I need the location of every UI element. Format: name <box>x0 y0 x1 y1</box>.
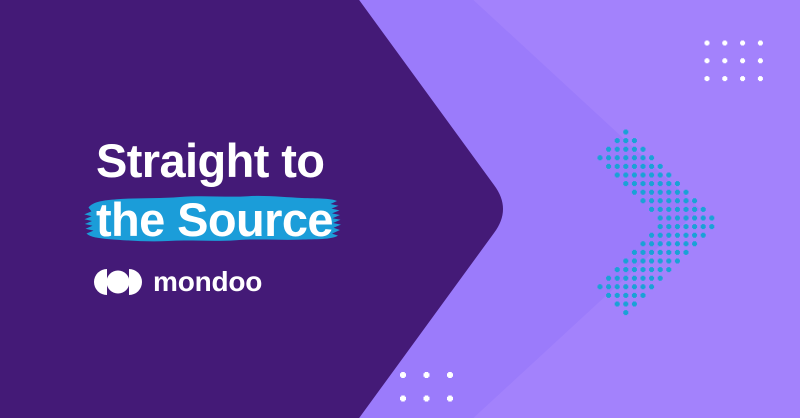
decorative-dot <box>623 130 628 135</box>
decorative-dot <box>701 207 706 212</box>
promo-banner: Straight to the Source mondoo <box>0 0 800 418</box>
decorative-dot <box>623 259 628 264</box>
decorative-dot <box>666 207 671 212</box>
decorative-dot <box>615 147 620 152</box>
decorative-dot <box>615 155 620 160</box>
decorative-dot <box>658 259 663 264</box>
decorative-dot <box>705 58 710 63</box>
decorative-dot <box>649 190 654 195</box>
decorative-dot <box>632 250 637 255</box>
decorative-dot <box>658 276 663 281</box>
headline-line-1: Straight to <box>96 132 394 190</box>
decorative-dot <box>623 164 628 169</box>
decorative-dot <box>649 181 654 186</box>
decorative-dot <box>675 250 680 255</box>
white-dot-grid-bottom <box>400 372 453 418</box>
decorative-dot <box>658 164 663 169</box>
decorative-dot <box>623 267 628 272</box>
decorative-dot <box>598 284 603 289</box>
decorative-dot <box>675 259 680 264</box>
decorative-dot <box>675 181 680 186</box>
decorative-dot <box>400 372 406 378</box>
decorative-dot <box>740 58 745 63</box>
decorative-dot <box>666 198 671 203</box>
decorative-dot <box>658 207 663 212</box>
decorative-dot <box>684 216 689 221</box>
decorative-dot <box>632 302 637 307</box>
decorative-dot <box>606 276 611 281</box>
decorative-dot <box>649 233 654 238</box>
decorative-dot <box>666 267 671 272</box>
decorative-dot <box>649 267 654 272</box>
decorative-dot <box>598 155 603 160</box>
decorative-dot <box>649 207 654 212</box>
decorative-dot <box>649 173 654 178</box>
decorative-dot <box>641 259 646 264</box>
decorative-dot <box>692 233 697 238</box>
decorative-dot <box>658 216 663 221</box>
decorative-dot <box>623 310 628 315</box>
decorative-dot <box>641 190 646 195</box>
decorative-dot <box>623 138 628 143</box>
decorative-dot <box>666 250 671 255</box>
decorative-dot <box>641 155 646 160</box>
decorative-dot <box>758 76 763 81</box>
decorative-dot <box>701 224 706 229</box>
decorative-dot <box>606 284 611 289</box>
decorative-dot <box>641 198 646 203</box>
decorative-dot <box>632 164 637 169</box>
decorative-dot <box>641 267 646 272</box>
decorative-dot <box>658 233 663 238</box>
decorative-dot <box>641 284 646 289</box>
decorative-dot <box>606 164 611 169</box>
decorative-dot <box>675 241 680 246</box>
decorative-dot <box>641 181 646 186</box>
decorative-dot <box>649 155 654 160</box>
decorative-dot <box>675 190 680 195</box>
decorative-dot <box>705 41 710 46</box>
decorative-dot <box>692 241 697 246</box>
mondoo-logo-mark <box>94 269 142 295</box>
decorative-dot <box>675 224 680 229</box>
decorative-dot <box>722 76 727 81</box>
decorative-dot <box>658 198 663 203</box>
decorative-dot <box>658 250 663 255</box>
decorative-dot <box>709 224 714 229</box>
decorative-dot <box>641 276 646 281</box>
decorative-dot <box>649 259 654 264</box>
decorative-dot <box>632 190 637 195</box>
decorative-dot <box>641 241 646 246</box>
decorative-dot <box>658 267 663 272</box>
decorative-dot <box>623 276 628 281</box>
decorative-dot <box>615 302 620 307</box>
decorative-dot <box>658 241 663 246</box>
decorative-dot <box>447 396 453 402</box>
decorative-dot <box>615 164 620 169</box>
decorative-dot <box>623 147 628 152</box>
decorative-dot <box>658 190 663 195</box>
decorative-dot <box>684 250 689 255</box>
decorative-dot <box>658 181 663 186</box>
decorative-dot <box>675 216 680 221</box>
decorative-dot <box>649 241 654 246</box>
decorative-dot <box>623 284 628 289</box>
decorative-dot <box>632 147 637 152</box>
decorative-dot <box>705 76 710 81</box>
decorative-dot <box>606 293 611 298</box>
decorative-dot <box>623 173 628 178</box>
headline-line-2-text: the Source <box>96 193 333 246</box>
decorative-dot <box>675 233 680 238</box>
decorative-dot <box>684 241 689 246</box>
decorative-dot <box>424 372 430 378</box>
cyan-dotted-chevron <box>598 130 715 316</box>
decorative-dot <box>606 155 611 160</box>
decorative-dot <box>649 250 654 255</box>
decorative-dot <box>675 198 680 203</box>
decorative-dot <box>701 233 706 238</box>
decorative-dot <box>722 58 727 63</box>
decorative-dot <box>641 147 646 152</box>
decorative-dot <box>684 190 689 195</box>
decorative-dot <box>615 293 620 298</box>
decorative-dot <box>684 207 689 212</box>
decorative-dot <box>666 233 671 238</box>
decorative-dot <box>649 276 654 281</box>
decorative-dot <box>447 372 453 378</box>
decorative-dot <box>615 138 620 143</box>
decorative-dot <box>632 138 637 143</box>
decorative-dot <box>684 198 689 203</box>
decorative-dot <box>692 198 697 203</box>
decorative-dot <box>658 224 663 229</box>
decorative-dot <box>632 267 637 272</box>
decorative-dot <box>684 224 689 229</box>
decorative-dot <box>740 41 745 46</box>
decorative-dot <box>722 41 727 46</box>
decorative-dot <box>684 233 689 238</box>
decorative-dot <box>606 147 611 152</box>
decorative-dot <box>632 181 637 186</box>
decorative-dot <box>615 284 620 289</box>
headline-line-1-text: Straight to <box>96 134 324 187</box>
decorative-dot <box>692 207 697 212</box>
decorative-dot <box>740 76 745 81</box>
decorative-dot <box>400 396 406 402</box>
decorative-dot <box>666 181 671 186</box>
decorative-dot <box>701 216 706 221</box>
decorative-dot <box>641 173 646 178</box>
decorative-dot <box>709 216 714 221</box>
headline-line-2: the Source <box>96 191 394 249</box>
decorative-dot <box>632 293 637 298</box>
decorative-dot <box>649 198 654 203</box>
headline-block: Straight to the Source <box>94 132 394 249</box>
white-dot-grid-top-right <box>705 41 763 82</box>
decorative-dot <box>623 181 628 186</box>
decorative-dot <box>424 396 430 402</box>
mondoo-wordmark: mondoo <box>153 268 262 296</box>
decorative-dot <box>623 302 628 307</box>
decorative-dot <box>758 58 763 63</box>
decorative-dot <box>649 164 654 169</box>
decorative-dot <box>666 241 671 246</box>
decorative-dot <box>666 224 671 229</box>
decorative-dot <box>632 173 637 178</box>
decorative-dot <box>658 173 663 178</box>
decorative-dot <box>615 267 620 272</box>
decorative-dot <box>666 216 671 221</box>
decorative-dot <box>632 276 637 281</box>
decorative-dot <box>758 41 763 46</box>
decorative-dot <box>623 293 628 298</box>
decorative-dot <box>692 224 697 229</box>
decorative-dot <box>641 164 646 169</box>
decorative-dot <box>666 173 671 178</box>
decorative-dot <box>615 276 620 281</box>
decorative-dot <box>615 173 620 178</box>
decorative-dot <box>666 190 671 195</box>
decorative-dot <box>632 259 637 264</box>
decorative-dot <box>641 293 646 298</box>
decorative-dot <box>632 155 637 160</box>
decorative-dot <box>632 284 637 289</box>
decorative-dot <box>649 284 654 289</box>
decorative-dot <box>623 155 628 160</box>
decorative-dot <box>692 216 697 221</box>
decorative-dot <box>675 207 680 212</box>
decorative-dot <box>666 259 671 264</box>
mondoo-logo: mondoo <box>94 268 262 296</box>
decorative-dot <box>641 250 646 255</box>
